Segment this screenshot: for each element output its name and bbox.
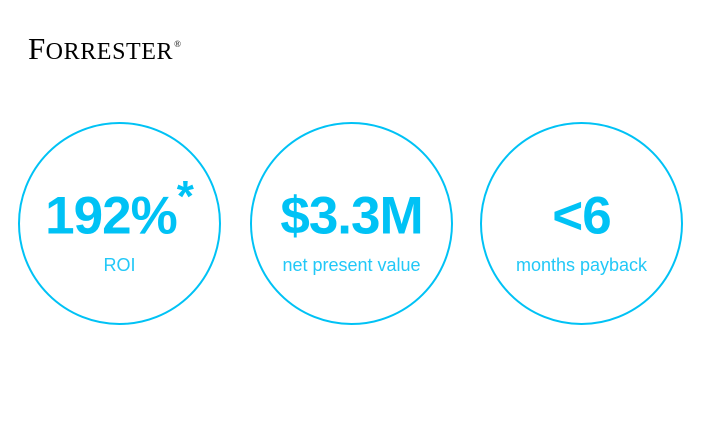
stat-circle-roi: 192%* ROI <box>18 122 221 325</box>
stat-value-roi-asterisk: * <box>177 172 194 221</box>
stat-label-months-payback: months payback <box>516 256 647 274</box>
stat-value-months-payback-number: <6 <box>552 186 610 245</box>
infographic-canvas: FORRESTER® 192%* ROI $3.3M net present v… <box>0 0 701 430</box>
registered-trademark-icon: ® <box>174 39 181 49</box>
stat-value-roi: 192%* <box>45 179 194 243</box>
stat-label-roi: ROI <box>103 256 135 274</box>
stat-label-net-present-value: net present value <box>282 256 420 274</box>
logo-rest-letters: ORRESTER <box>46 39 173 65</box>
logo-lead-letter: F <box>28 31 46 66</box>
stat-circle-net-present-value: $3.3M net present value <box>250 122 453 325</box>
stat-value-net-present-value-number: $3.3M <box>280 186 422 245</box>
stat-value-months-payback: <6 <box>552 179 610 243</box>
forrester-logo: FORRESTER® <box>28 33 180 64</box>
stat-value-net-present-value: $3.3M <box>280 179 422 243</box>
stat-circle-months-payback: <6 months payback <box>480 122 683 325</box>
stat-value-roi-number: 192% <box>45 186 177 245</box>
